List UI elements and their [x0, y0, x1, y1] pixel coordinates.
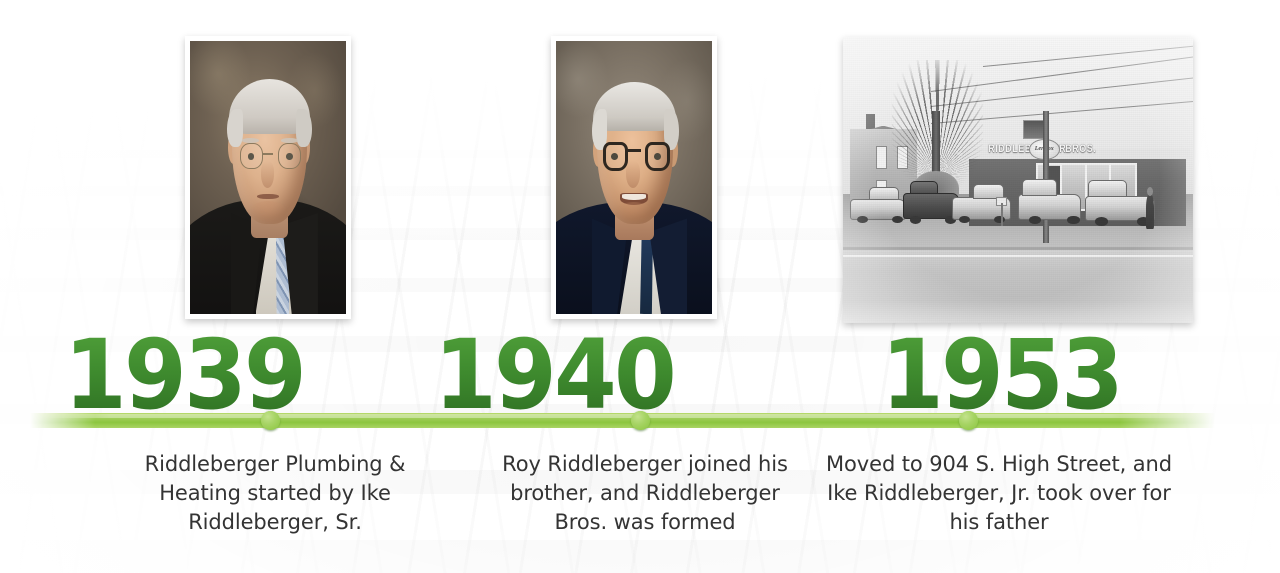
historic-storefront-photo: RIDDLEBERGER BROS. Lennox — [843, 37, 1193, 323]
eyebrow-right — [281, 138, 298, 143]
milestone-photo-1953[interactable]: RIDDLEBERGER BROS. Lennox — [843, 37, 1193, 323]
milestone-year: 1939 — [1, 327, 368, 423]
eyeglass-lens-right — [645, 142, 670, 171]
timeline-milestone[interactable]: 1940 Roy Riddleberger joined his brother… — [443, 0, 833, 573]
chin — [249, 201, 286, 223]
milestone-year: 1940 — [371, 327, 738, 423]
milestone-photo-1939[interactable] — [185, 36, 351, 319]
eyeglass-bridge — [262, 153, 273, 155]
milestone-caption: Riddleberger Plumbing & Heating started … — [115, 450, 435, 537]
portrait-ike-sr — [190, 41, 346, 314]
eyeglass-lens-left — [240, 143, 263, 169]
teeth — [622, 194, 645, 200]
timeline-milestone[interactable]: 1939 Riddleberger Plumbing & Heating sta… — [75, 0, 465, 573]
timeline-marker-dot-1939[interactable] — [261, 411, 280, 430]
eyeglass-lens-right — [278, 143, 301, 169]
eyeglass-lens-left — [603, 142, 628, 171]
timeline-marker-dot-1953[interactable] — [959, 411, 978, 430]
milestone-caption: Moved to 904 S. High Street, and Ike Rid… — [819, 450, 1179, 537]
portrait-roy — [556, 41, 712, 314]
timeline-marker-dot-1940[interactable] — [631, 411, 650, 430]
mouth — [257, 194, 279, 199]
hair-side-left — [227, 109, 243, 147]
chin — [614, 202, 653, 224]
history-timeline: 1939 Riddleberger Plumbing & Heating sta… — [0, 0, 1280, 573]
milestone-year: 1953 — [813, 327, 1189, 423]
timeline-milestone[interactable]: RIDDLEBERGER BROS. Lennox — [815, 0, 1215, 573]
eyebrow-left — [242, 138, 259, 143]
eyeglass-bridge — [627, 149, 641, 152]
milestone-photo-1940[interactable] — [551, 36, 717, 319]
milestone-caption: Roy Riddleberger joined his brother, and… — [485, 450, 805, 537]
hair-side-right — [296, 109, 312, 147]
photo-vignette — [843, 37, 1193, 323]
